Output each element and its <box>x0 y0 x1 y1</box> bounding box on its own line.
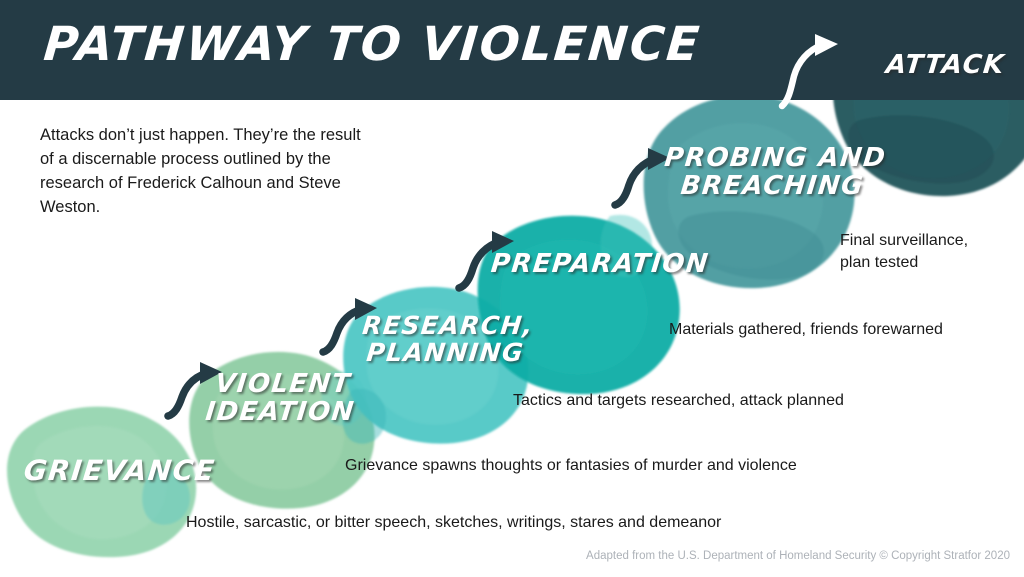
text-layer: Attacks don’t just happen. They’re the r… <box>0 0 1024 577</box>
stage-caption-preparation: Materials gathered, friends forewarned <box>669 319 943 341</box>
infographic-canvas: PATHWAY TO VIOLENCE GRIEVANCE <box>0 0 1024 577</box>
stage-caption-violent-ideation: Grievance spawns thoughts or fantasies o… <box>345 455 797 477</box>
stage-caption-research-planning: Tactics and targets researched, attack p… <box>513 390 844 412</box>
stage-caption-probing-breaching: Final surveillance, plan tested <box>840 230 968 275</box>
intro-paragraph: Attacks don’t just happen. They’re the r… <box>40 124 370 220</box>
footer-attribution: Adapted from the U.S. Department of Home… <box>586 550 1010 562</box>
stage-caption-grievance: Hostile, sarcastic, or bitter speech, sk… <box>186 512 721 534</box>
